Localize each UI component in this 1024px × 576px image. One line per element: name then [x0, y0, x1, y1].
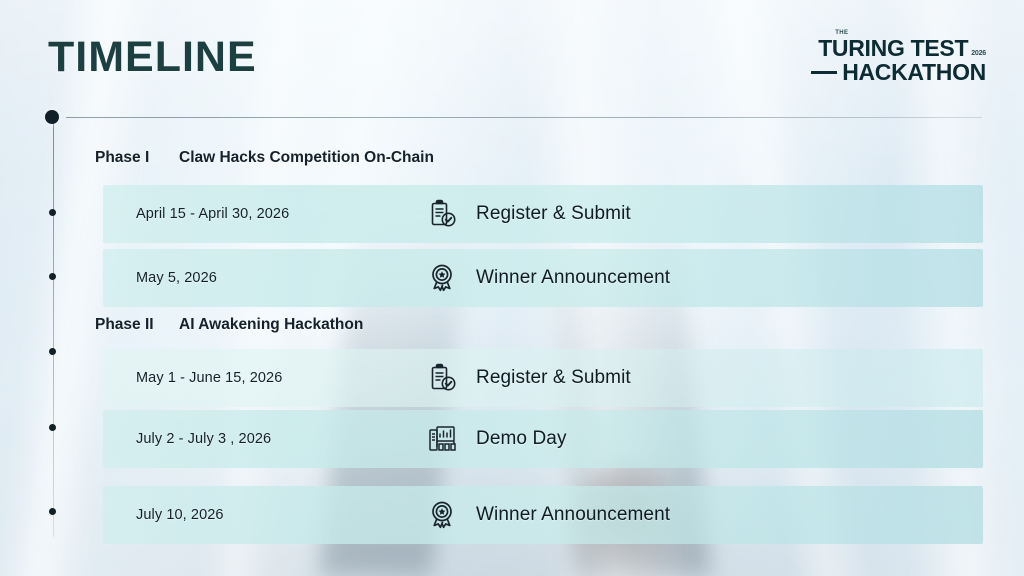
timeline-row-3[interactable]: May 1 - June 15, 2026 Register & Submit [103, 349, 983, 407]
row-4-date: July 2 - July 3 , 2026 [103, 431, 408, 447]
phase-1-name: Phase I [95, 149, 179, 167]
row-5-label: Winner Announcement [476, 504, 670, 526]
timeline-rail [53, 117, 55, 537]
clipboard-check-icon [408, 361, 476, 395]
presentation-icon [408, 423, 476, 455]
row-1-label: Register & Submit [476, 203, 631, 225]
logo-turing-test-text: TURING TEST [818, 37, 968, 60]
logo-hackathon-text: HACKATHON [842, 61, 986, 84]
row-4-label: Demo Day [476, 428, 567, 450]
timeline-dot-5 [49, 508, 56, 515]
phase-header-2: Phase II AI Awakening Hackathon [95, 316, 363, 334]
phase-1-title: Claw Hacks Competition On-Chain [179, 149, 434, 167]
award-ribbon-icon [408, 498, 476, 532]
clipboard-check-icon [408, 197, 476, 231]
timeline-row-2[interactable]: May 5, 2026 Winner Announcement [103, 249, 983, 307]
row-2-date: May 5, 2026 [103, 270, 408, 286]
row-3-label: Register & Submit [476, 367, 631, 389]
phase-2-name: Phase II [95, 316, 179, 334]
award-ribbon-icon [408, 261, 476, 295]
row-2-label: Winner Announcement [476, 267, 670, 289]
timeline-dot-2 [49, 273, 56, 280]
row-3-date: May 1 - June 15, 2026 [103, 370, 408, 386]
row-5-date: July 10, 2026 [103, 507, 408, 523]
page-title: TIMELINE [48, 33, 257, 82]
phase-2-title: AI Awakening Hackathon [179, 316, 363, 334]
event-logo: THE TURING TEST 2026 HACKATHON [811, 30, 986, 84]
timeline-row-1[interactable]: April 15 - April 30, 2026 Register & Sub… [103, 185, 983, 243]
timeline-dot-1 [49, 209, 56, 216]
timeline-row-4[interactable]: July 2 - July 3 , 2026 Demo Day [103, 410, 983, 468]
timeline-dot-head [45, 110, 59, 124]
timeline-row-5[interactable]: July 10, 2026 Winner Announcement [103, 486, 983, 544]
timeline-dot-4 [49, 424, 56, 431]
logo-year-text: 2026 [971, 50, 986, 57]
timeline-dot-3 [49, 348, 56, 355]
timeline-top-rule [66, 117, 982, 119]
phase-header-1: Phase I Claw Hacks Competition On-Chain [95, 149, 434, 167]
row-1-date: April 15 - April 30, 2026 [103, 206, 408, 222]
logo-dash [811, 71, 837, 74]
